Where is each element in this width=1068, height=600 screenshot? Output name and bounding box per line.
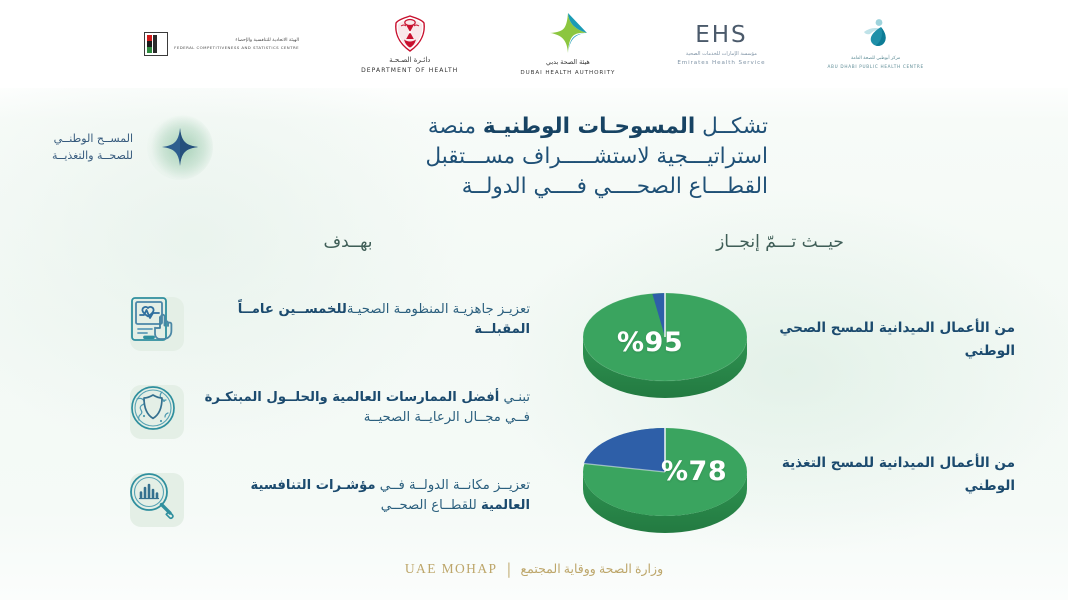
logo-dha-english: DUBAI HEALTH AUTHORITY xyxy=(520,70,615,76)
infographic-canvas: الهيئة الاتحادية للتنافسية والإحصاء FEDE… xyxy=(0,0,1068,600)
stat-item: من الأعمال الميدانية للمسح الصحي الوطني xyxy=(575,272,1015,407)
ehs-wordmark-icon: EHS xyxy=(695,22,747,48)
goal-text: تعزيـز جاهزيـة المنظومـة الصحيـةللخمســي… xyxy=(204,300,530,340)
headline-emphasis: المسوحـات الوطنيـة xyxy=(483,114,695,139)
goal-text: تبنـي أفضل الممارسات العالمية والحلــول … xyxy=(204,388,530,428)
stat-label: من الأعمال الميدانية للمسح التغذية الوطن… xyxy=(769,452,1015,498)
headline-prefix: تشكــل xyxy=(695,114,768,139)
logo-emirates-health-service: EHS مؤسسة الإمارات للخدمات الصحية Emirat… xyxy=(677,22,765,66)
pie-value-label: %78 xyxy=(661,456,727,487)
logo-doh-english: DEPARTMENT OF HEALTH xyxy=(361,67,458,74)
goal-text-normal-1: تبنـي xyxy=(499,390,530,405)
goal-text-normal-2: فــي مجــال الرعايــة الصحيــة xyxy=(364,410,530,425)
stats-list: من الأعمال الميدانية للمسح الصحي الوطني xyxy=(575,272,1015,542)
logo-dubai-health-authority: هيئة الصحة بدبي DUBAI HEALTH AUTHORITY xyxy=(520,12,615,76)
page-title: تشكــل المسوحـات الوطنيـة منصة استراتيــ… xyxy=(348,112,768,202)
goal-text-bold: أفضل الممارسات العالمية والحلــول المبتك… xyxy=(205,390,500,405)
survey-brand: المســح الوطنــي للصحــة والتغذيــة xyxy=(52,114,213,180)
stats-section-heading: حيــث تـــمّ إنجــاز xyxy=(630,232,930,252)
uae-flag-mark-icon xyxy=(144,32,168,56)
logo-doh-arabic: دائـرة الصـحـة xyxy=(389,56,430,64)
four-point-star-icon xyxy=(147,114,213,180)
logo-dha-arabic: هيئة الصحة بدبي xyxy=(546,58,590,66)
goals-section-heading: بهــدف xyxy=(228,232,468,252)
goal-icon-wrap xyxy=(120,375,186,441)
goal-icon-wrap xyxy=(120,463,186,529)
four-point-star-icon xyxy=(547,12,589,54)
goal-item: تعزيـز جاهزيـة المنظومـة الصحيـةللخمســي… xyxy=(120,276,530,364)
person-droplet-icon xyxy=(860,18,892,54)
goal-text-normal-1: تعزيــز مكانــة الدولــة فــي xyxy=(376,478,530,493)
logo-ehs-english: Emirates Health Service xyxy=(677,60,765,66)
pie-value-label: %95 xyxy=(617,327,683,358)
goal-text-normal-2: للقطــاع الصحــي xyxy=(381,498,481,513)
logo-adphc-arabic: مركز أبوظبي للصحة العامة xyxy=(851,56,900,62)
logo-abu-dhabi-public-health-centre: مركز أبوظبي للصحة العامة ABU DHABI PUBLI… xyxy=(827,18,923,70)
goals-list: تعزيـز جاهزيـة المنظومـة الصحيـةللخمســي… xyxy=(120,276,530,540)
logo-fcsc-english: FEDERAL COMPETITIVENESS AND STATISTICS C… xyxy=(174,45,299,50)
goal-item: تعزيــز مكانــة الدولــة فــي مؤشـرات ال… xyxy=(120,452,530,540)
logo-federal-competitiveness-statistics: الهيئة الاتحادية للتنافسية والإحصاء FEDE… xyxy=(144,32,299,56)
pie-chart-78: %78 xyxy=(575,416,755,534)
pie-chart-95: %95 xyxy=(575,281,755,399)
goal-text-normal-1: تعزيـز جاهزيـة المنظومـة الصحيـة xyxy=(347,302,530,317)
logo-ehs-arabic: مؤسسة الإمارات للخدمات الصحية xyxy=(686,51,757,57)
goal-text: تعزيــز مكانــة الدولــة فــي مؤشـرات ال… xyxy=(204,476,530,516)
goal-icon-wrap xyxy=(120,287,186,353)
logo-fcsc-arabic: الهيئة الاتحادية للتنافسية والإحصاء xyxy=(174,38,299,44)
brand-line-1: المســح الوطنــي xyxy=(52,130,133,147)
brand-star-mark xyxy=(147,114,213,180)
footer-divider: | xyxy=(506,560,511,578)
partner-logo-bar: الهيئة الاتحادية للتنافسية والإحصاء FEDE… xyxy=(0,0,1068,88)
goal-item: تبنـي أفضل الممارسات العالمية والحلــول … xyxy=(120,364,530,452)
magnifier-bars-icon xyxy=(128,471,178,521)
stat-item: من الأعمال الميدانية للمسح التغذية الوطن… xyxy=(575,407,1015,542)
stat-label: من الأعمال الميدانية للمسح الصحي الوطني xyxy=(769,317,1015,363)
brand-line-2: للصحــة والتغذيــة xyxy=(52,147,133,164)
footer-ministry-branding: UAE MOHAP | وزارة الصحة ووقاية المجتمع xyxy=(0,560,1068,578)
footer-english: UAE MOHAP xyxy=(405,561,497,577)
abu-dhabi-crest-icon xyxy=(393,15,427,53)
logo-adphc-english: ABU DHABI PUBLIC HEALTH CENTRE xyxy=(827,64,923,70)
logo-department-of-health: دائـرة الصـحـة DEPARTMENT OF HEALTH xyxy=(361,15,458,74)
tablet-heartbeat-icon xyxy=(127,294,179,346)
globe-shield-icon xyxy=(128,383,178,433)
footer-arabic: وزارة الصحة ووقاية المجتمع xyxy=(520,561,663,577)
